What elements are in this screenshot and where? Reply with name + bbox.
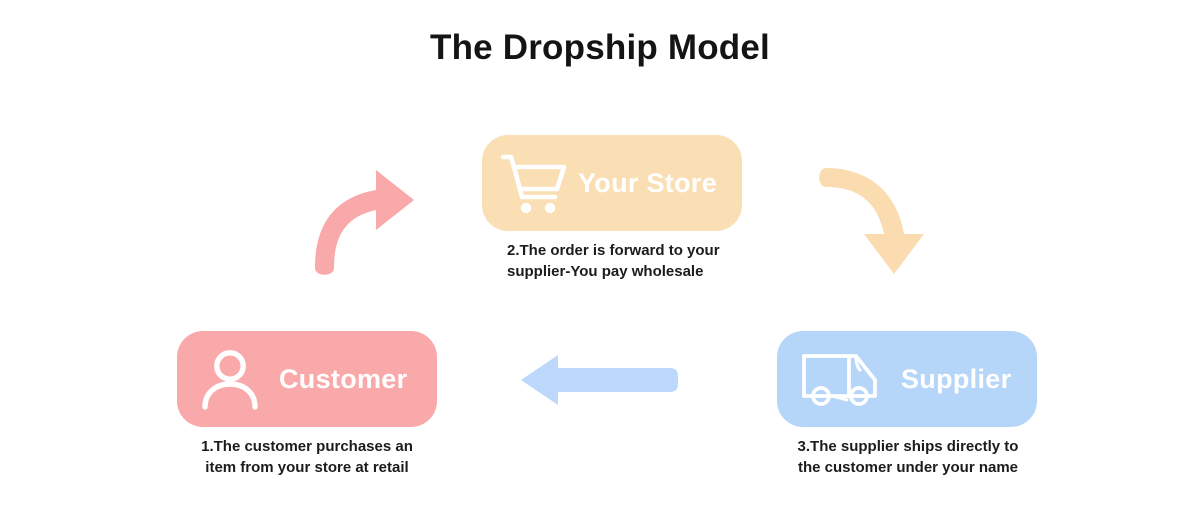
node-supplier[interactable]: Supplier	[777, 331, 1037, 427]
caption-line-1: 1.The customer purchases an	[177, 436, 437, 457]
straight-arrow-left-icon	[518, 352, 678, 408]
node-label-customer: Customer	[279, 364, 407, 395]
delivery-truck-icon	[799, 348, 885, 410]
node-your-store[interactable]: Your Store	[482, 135, 742, 231]
caption-line-1: 2.The order is forward to your	[507, 240, 757, 261]
page-title: The Dropship Model	[0, 28, 1200, 68]
caption-your-store: 2.The order is forward to your supplier-…	[507, 240, 757, 283]
caption-line-2: supplier-You pay wholesale	[507, 261, 757, 282]
node-customer[interactable]: Customer	[177, 331, 437, 427]
caption-customer: 1.The customer purchases an item from yo…	[177, 436, 437, 479]
caption-supplier: 3.The supplier ships directly to the cus…	[777, 436, 1039, 479]
curved-arrow-up-right-icon	[296, 158, 424, 276]
curved-arrow-down-icon	[816, 160, 934, 282]
dropship-diagram: The Dropship Model Your Store 2.The orde…	[0, 0, 1200, 530]
caption-line-2: item from your store at retail	[177, 457, 437, 478]
caption-line-1: 3.The supplier ships directly to	[777, 436, 1039, 457]
caption-line-2: the customer under your name	[777, 457, 1039, 478]
shopping-cart-icon	[498, 150, 570, 216]
node-label-supplier: Supplier	[901, 364, 1011, 395]
node-label-your-store: Your Store	[578, 168, 717, 199]
person-icon	[199, 347, 261, 411]
